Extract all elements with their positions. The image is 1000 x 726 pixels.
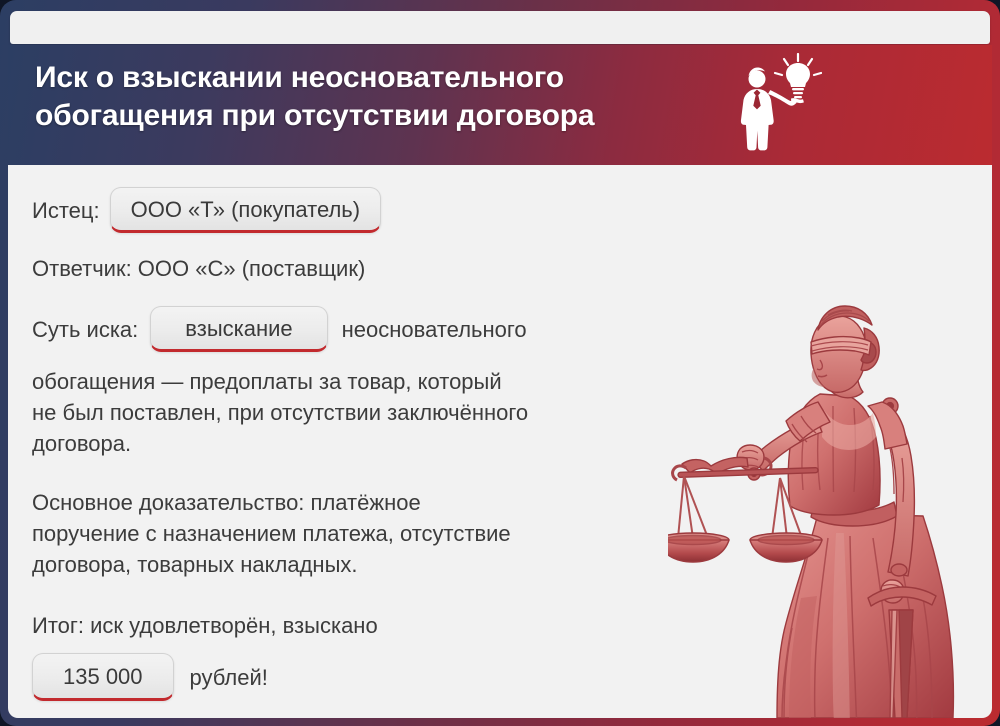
page-title: Иск о взыскании неосновательного обогаще…	[35, 59, 775, 135]
lady-justice-icon	[668, 298, 992, 718]
idea-man-icon	[712, 53, 822, 163]
plaintiff-row: Истец: ООО «Т» (покупатель)	[32, 187, 712, 233]
card-header: Иск о взыскании неосновательного обогаще…	[8, 45, 992, 165]
card-body: Истец: ООО «Т» (покупатель) Ответчик: ОО…	[8, 165, 992, 718]
content-block: Истец: ООО «Т» (покупатель) Ответчик: ОО…	[32, 181, 712, 701]
info-card: Иск о взыскании неосновательного обогаще…	[0, 0, 1000, 726]
claim-chip[interactable]: взыскание	[150, 306, 327, 352]
claim-row: Суть иска: взыскание неосновательного	[32, 306, 712, 352]
result-row: Итог: иск удовлетворён, взыскано	[32, 610, 712, 641]
result-text: Итог: иск удовлетворён, взыскано	[32, 610, 378, 641]
claim-tail-text: неосновательного	[342, 314, 527, 345]
defendant-row: Ответчик: ООО «С» (поставщик)	[32, 253, 712, 284]
claim-label: Суть иска:	[32, 314, 138, 345]
plaintiff-chip[interactable]: ООО «Т» (покупатель)	[110, 187, 381, 233]
defendant-text: Ответчик: ООО «С» (поставщик)	[32, 253, 365, 284]
amount-chip[interactable]: 135 000	[32, 653, 174, 701]
plaintiff-label: Истец:	[32, 195, 100, 226]
currency-label: рублей!	[190, 662, 268, 693]
evidence-paragraph: Основное доказательство: платёжное поруч…	[32, 487, 712, 580]
claim-paragraph: обогащения — предоплаты за товар, которы…	[32, 366, 712, 459]
title-strip	[10, 11, 990, 44]
amount-row: 135 000 рублей!	[32, 653, 712, 701]
